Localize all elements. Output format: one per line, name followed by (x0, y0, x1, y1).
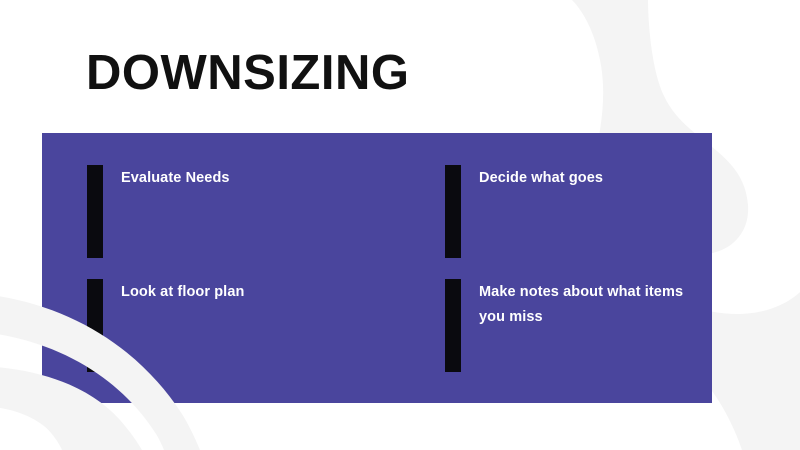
items-grid: Evaluate Needs Decide what goes Look at … (42, 133, 712, 403)
list-item[interactable]: Evaluate Needs (87, 165, 445, 279)
list-item-label: Look at floor plan (121, 280, 244, 305)
list-item-label: Decide what goes (479, 166, 603, 191)
accent-bar-icon (445, 279, 461, 372)
accent-bar-icon (445, 165, 461, 258)
content-panel: Evaluate Needs Decide what goes Look at … (42, 133, 712, 403)
accent-bar-icon (87, 165, 103, 258)
slide-canvas: DOWNSIZING Evaluate Needs Decide what go… (0, 0, 800, 450)
list-item-label: Evaluate Needs (121, 166, 230, 191)
page-title: DOWNSIZING (86, 48, 409, 99)
list-item[interactable]: Make notes about what items you miss (445, 279, 712, 403)
list-item[interactable]: Decide what goes (445, 165, 712, 279)
list-item[interactable]: Look at floor plan (87, 279, 445, 403)
list-item-label: Make notes about what items you miss (479, 280, 689, 330)
accent-bar-icon (87, 279, 103, 372)
